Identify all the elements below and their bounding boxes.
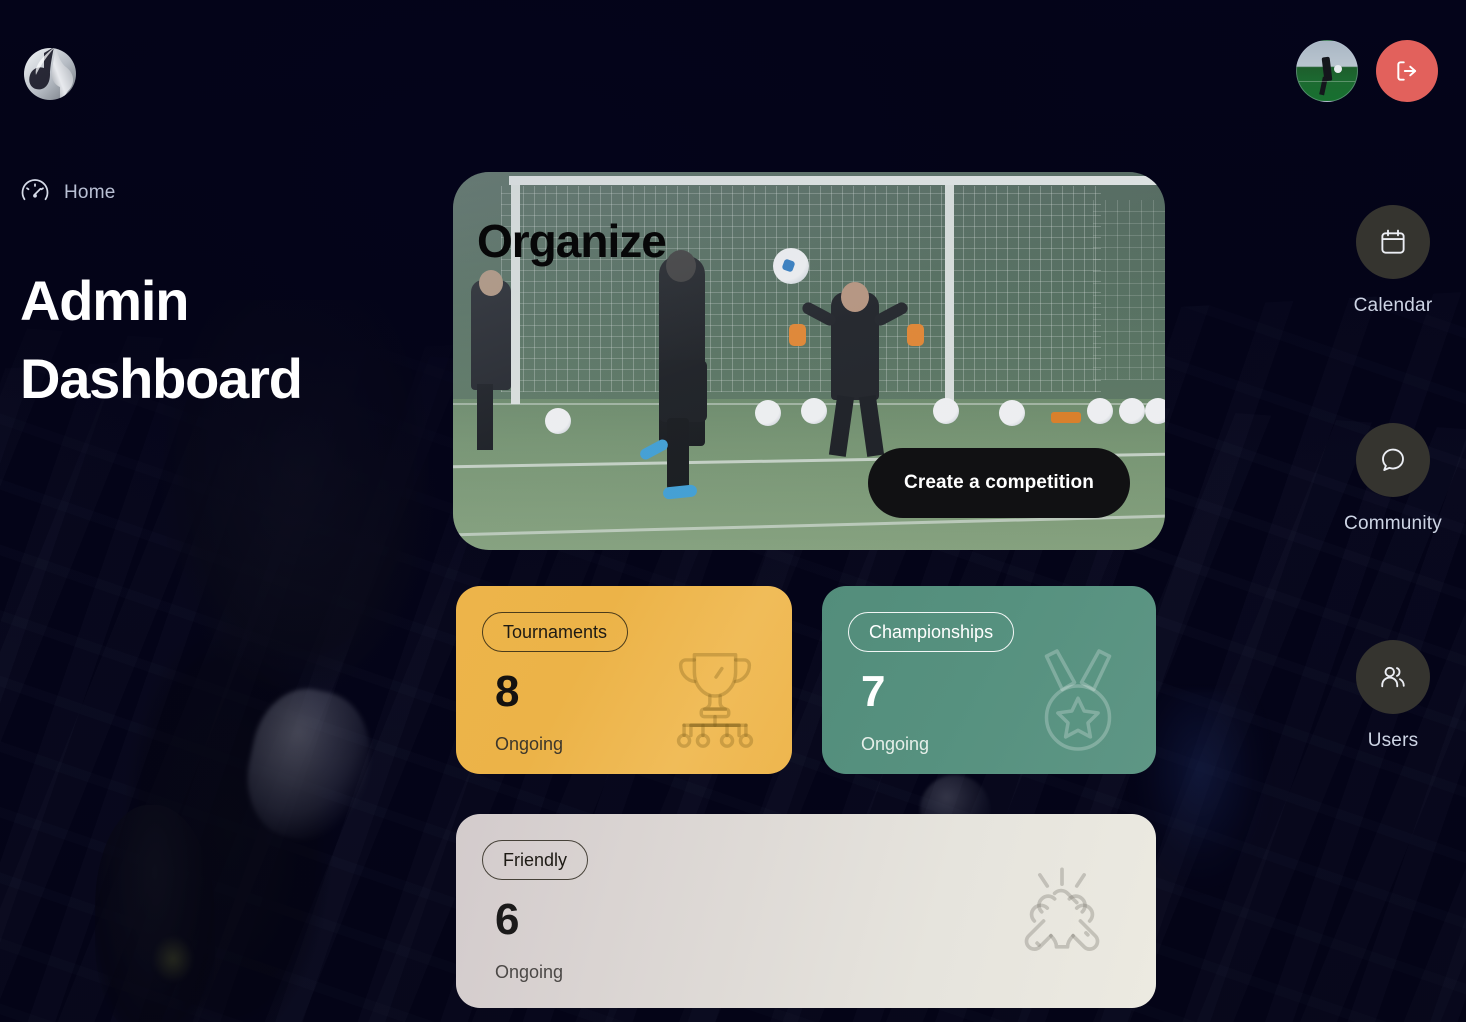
- stat-status-championships: Ongoing: [861, 734, 929, 755]
- breadcrumb-label: Home: [64, 182, 115, 204]
- create-competition-button[interactable]: Create a competition: [868, 448, 1130, 518]
- calendar-icon: [1378, 227, 1408, 257]
- rail-circle-community: [1356, 423, 1430, 497]
- trophy-bracket-icon: [660, 640, 770, 752]
- stat-badge-tournaments: Tournaments: [482, 612, 628, 652]
- chat-bubble-icon: [1378, 445, 1408, 475]
- stat-badge-championships: Championships: [848, 612, 1014, 652]
- stat-card-friendly[interactable]: Friendly 6 Ongoing: [456, 814, 1156, 1008]
- handshake-icon: [1002, 862, 1122, 980]
- rail-label-calendar: Calendar: [1354, 295, 1433, 317]
- medal-star-icon: [1022, 644, 1134, 756]
- users-icon: [1378, 662, 1408, 692]
- stat-badge-friendly: Friendly: [482, 840, 588, 880]
- stat-card-tournaments[interactable]: Tournaments 8 Ongoing: [456, 586, 792, 774]
- app-logo[interactable]: [20, 45, 80, 105]
- page-title-line-2: Dashboard: [20, 340, 302, 418]
- stat-value-tournaments: 8: [495, 670, 519, 714]
- stat-value-championships: 7: [861, 670, 885, 714]
- rail-circle-users: [1356, 640, 1430, 714]
- stat-value-friendly: 6: [495, 898, 519, 942]
- rail-label-users: Users: [1368, 730, 1419, 752]
- dashboard-root: Home Admin Dashboard: [0, 0, 1466, 1022]
- gauge-icon: [20, 178, 50, 208]
- rail-label-community: Community: [1344, 513, 1442, 535]
- hero-title: Organize: [477, 214, 666, 268]
- stat-status-friendly: Ongoing: [495, 962, 563, 983]
- rail-circle-calendar: [1356, 205, 1430, 279]
- right-nav-rail: Calendar Community Users: [1320, 0, 1466, 1022]
- breadcrumb[interactable]: Home: [20, 178, 115, 208]
- stat-card-championships[interactable]: Championships 7 Ongoing: [822, 586, 1156, 774]
- stat-status-tournaments: Ongoing: [495, 734, 563, 755]
- page-title: Admin Dashboard: [20, 262, 302, 418]
- rail-item-users[interactable]: Users: [1320, 640, 1466, 752]
- rail-item-calendar[interactable]: Calendar: [1320, 205, 1466, 317]
- rail-item-community[interactable]: Community: [1320, 423, 1466, 535]
- page-title-line-1: Admin: [20, 262, 302, 340]
- hero-card[interactable]: Organize Create a competition: [453, 172, 1165, 550]
- app-logo-icon: [20, 45, 80, 105]
